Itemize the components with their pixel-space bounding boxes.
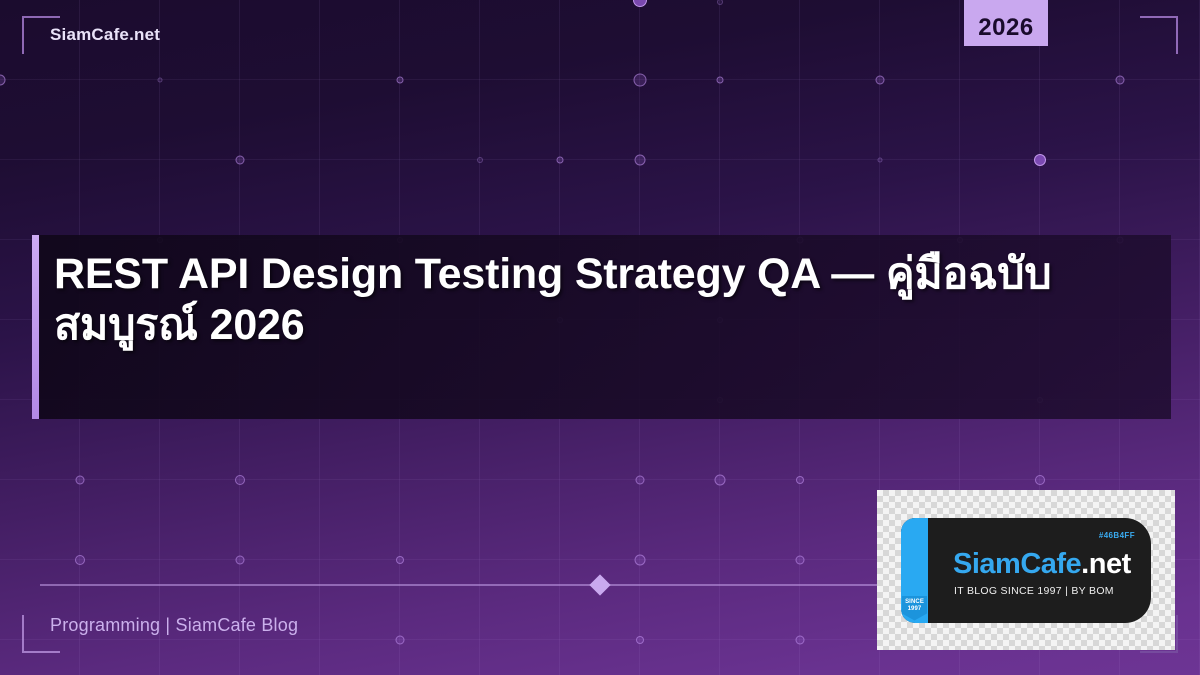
- footer-category: Programming | SiamCafe Blog: [50, 615, 298, 636]
- decor-dot: [796, 636, 805, 645]
- decor-dot: [633, 0, 647, 7]
- decor-dot: [1035, 475, 1045, 485]
- logo-card: SINCE 1997 #46B4FF SiamCafe.net IT BLOG …: [877, 490, 1175, 650]
- decor-dot: [396, 556, 404, 564]
- diamond-marker-icon: [589, 574, 610, 595]
- since-badge-line1: SINCE: [902, 599, 927, 607]
- logo-tagline: IT BLOG SINCE 1997 | BY BOM: [954, 585, 1114, 597]
- decor-dot: [796, 556, 805, 565]
- decor-dot: [76, 476, 85, 485]
- title-panel: REST API Design Testing Strategy QA — คู…: [32, 235, 1171, 419]
- logo-wordmark-suffix: .net: [1081, 548, 1131, 580]
- decor-dot: [396, 636, 405, 645]
- decor-dot: [75, 555, 85, 565]
- decor-dot: [636, 636, 644, 644]
- decor-dot: [635, 555, 646, 566]
- brand-name: SiamCafe.net: [50, 25, 160, 45]
- decor-dot: [557, 157, 564, 164]
- banner-root: SiamCafe.net 2026 REST API Design Testin…: [0, 0, 1200, 675]
- title-accent-bar: [32, 235, 39, 419]
- decor-dot: [636, 476, 645, 485]
- corner-bracket-top-right: [1140, 16, 1178, 54]
- since-badge-icon: SINCE 1997: [902, 596, 927, 621]
- logo-ribbon: SINCE 1997: [901, 518, 928, 623]
- decor-dot: [1116, 76, 1125, 85]
- decor-dot: [715, 475, 726, 486]
- decor-dot: [0, 75, 6, 86]
- logo-inner: SINCE 1997 #46B4FF SiamCafe.net IT BLOG …: [901, 518, 1151, 623]
- logo-hex-color-label: #46B4FF: [1099, 531, 1135, 540]
- decor-dot: [235, 475, 245, 485]
- decor-dot: [397, 77, 404, 84]
- decor-dot: [477, 157, 483, 163]
- logo-wordmark-primary: SiamCafe: [953, 548, 1081, 580]
- decor-dot: [634, 74, 647, 87]
- decor-dot: [635, 155, 646, 166]
- decor-dot: [1034, 154, 1046, 166]
- decor-dot: [796, 476, 804, 484]
- since-badge-line2: 1997: [902, 606, 927, 614]
- decor-dot: [878, 158, 883, 163]
- page-title: REST API Design Testing Strategy QA — คู…: [54, 249, 1147, 351]
- year-badge: 2026: [964, 0, 1048, 46]
- decor-dot: [236, 156, 245, 165]
- decor-dot: [876, 76, 885, 85]
- decor-dot: [236, 556, 245, 565]
- logo-wordmark: SiamCafe.net: [953, 548, 1131, 581]
- decor-dot: [717, 77, 724, 84]
- decor-dot: [717, 0, 723, 5]
- decor-dot: [158, 78, 163, 83]
